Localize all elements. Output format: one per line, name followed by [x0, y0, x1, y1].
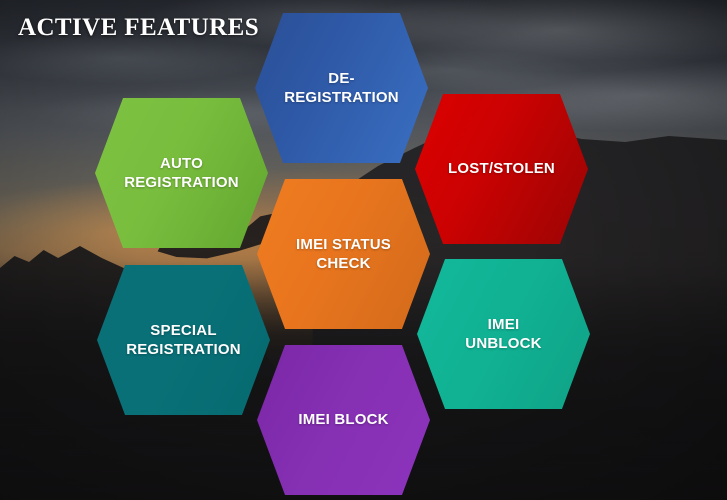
feature-label-special-registration: SPECIAL REGISTRATION	[126, 321, 241, 359]
feature-label-imei-status-check: IMEI STATUS CHECK	[296, 235, 391, 273]
feature-label-line2: UNBLOCK	[465, 335, 541, 352]
active-features-slide: ACTIVE FEATURES DE- REGISTRATION AUTO RE…	[0, 0, 727, 500]
feature-label-line2: REGISTRATION	[124, 174, 239, 191]
feature-label-imei-block: IMEI BLOCK	[298, 410, 388, 429]
feature-label-de-registration: DE- REGISTRATION	[284, 69, 399, 107]
feature-label-line2: REGISTRATION	[126, 341, 241, 358]
feature-label-line1: SPECIAL	[150, 322, 216, 339]
feature-label-line1: IMEI	[488, 316, 520, 333]
feature-label-line1: IMEI STATUS	[296, 236, 391, 253]
feature-label-lost-stolen: LOST/STOLEN	[448, 159, 555, 178]
feature-label-line1: AUTO	[160, 155, 203, 172]
page-title: ACTIVE FEATURES	[18, 14, 259, 42]
feature-label-line2: CHECK	[316, 255, 370, 272]
feature-label-line1: IMEI BLOCK	[298, 411, 388, 428]
feature-hex-special-registration[interactable]: SPECIAL REGISTRATION	[97, 265, 270, 415]
feature-label-line1: DE-	[328, 70, 354, 87]
feature-label-line1: LOST/STOLEN	[448, 160, 555, 177]
feature-label-imei-unblock: IMEI UNBLOCK	[465, 315, 541, 353]
feature-label-line2: REGISTRATION	[284, 89, 399, 106]
feature-hex-imei-status-check[interactable]: IMEI STATUS CHECK	[257, 179, 430, 329]
feature-hex-imei-unblock[interactable]: IMEI UNBLOCK	[417, 259, 590, 409]
feature-hex-lost-stolen[interactable]: LOST/STOLEN	[415, 94, 588, 244]
feature-hex-imei-block[interactable]: IMEI BLOCK	[257, 345, 430, 495]
feature-hex-auto-registration[interactable]: AUTO REGISTRATION	[95, 98, 268, 248]
feature-label-auto-registration: AUTO REGISTRATION	[124, 154, 239, 192]
feature-hex-de-registration[interactable]: DE- REGISTRATION	[255, 13, 428, 163]
